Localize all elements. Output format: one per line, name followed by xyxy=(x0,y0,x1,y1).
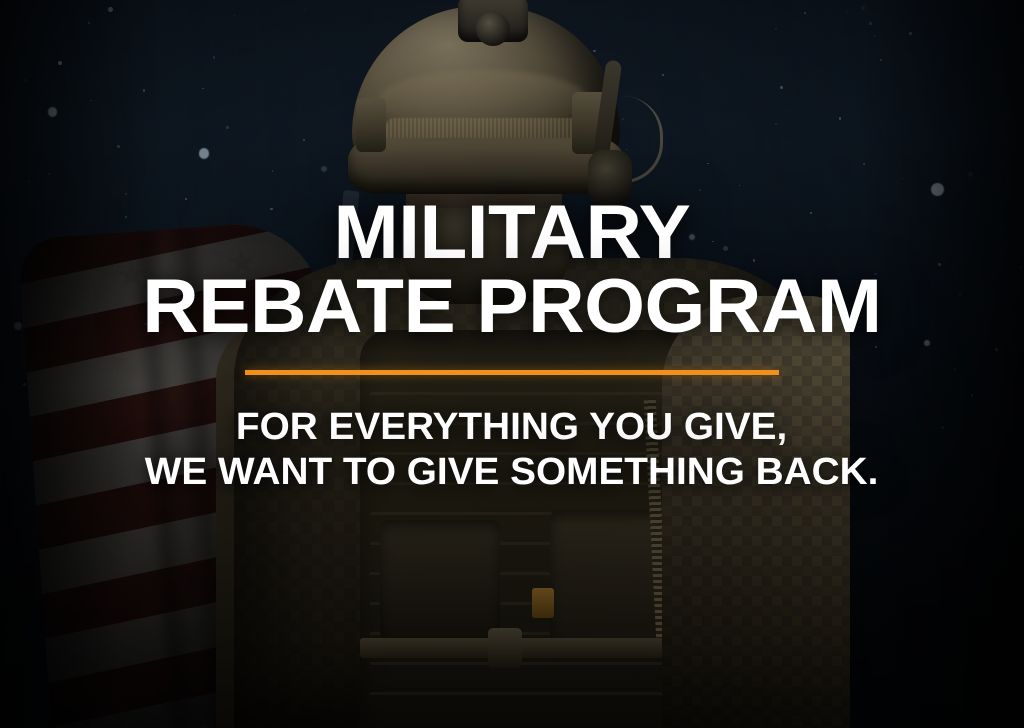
subheadline-line-2: WE WANT TO GIVE SOMETHING BACK. xyxy=(145,450,879,495)
military-rebate-banner: MILITARY REBATE PROGRAM FOR EVERYTHING Y… xyxy=(0,0,1024,728)
headline-line-1: MILITARY xyxy=(142,196,881,270)
headline-line-2: REBATE PROGRAM xyxy=(142,270,881,344)
orange-divider xyxy=(245,370,779,375)
subheadline-line-1: FOR EVERYTHING YOU GIVE, xyxy=(145,405,879,450)
page-title: MILITARY REBATE PROGRAM xyxy=(142,196,881,343)
banner-content: MILITARY REBATE PROGRAM FOR EVERYTHING Y… xyxy=(0,0,1024,728)
subheadline: FOR EVERYTHING YOU GIVE, WE WANT TO GIVE… xyxy=(145,405,879,495)
